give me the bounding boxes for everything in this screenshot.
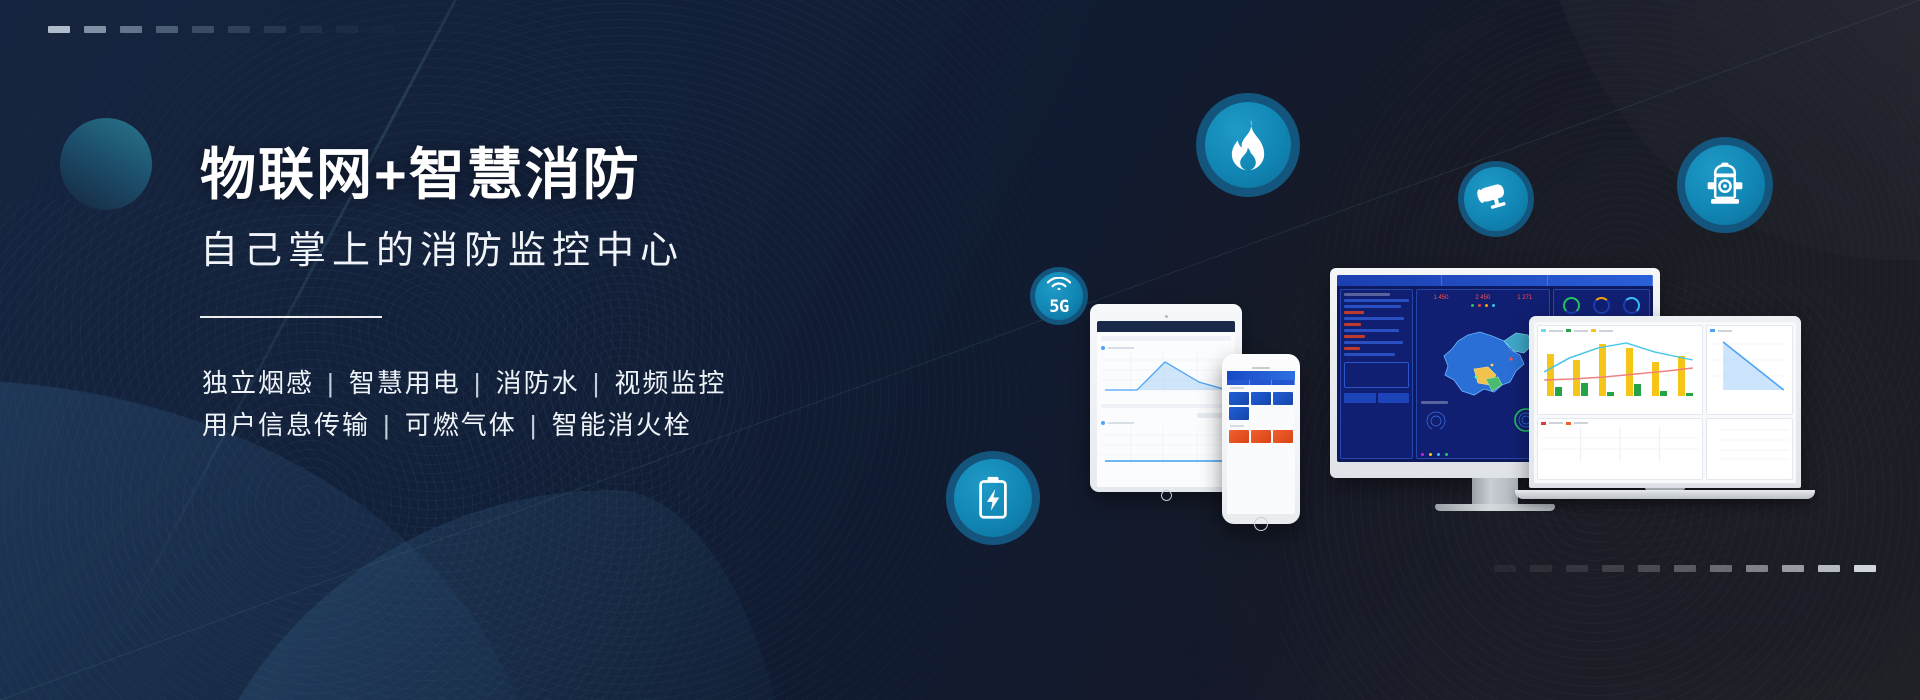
battery-icon bbox=[946, 451, 1040, 545]
cctv-icon bbox=[1458, 161, 1534, 237]
wave-shape-bottom-left-2 bbox=[180, 490, 800, 700]
tablet bbox=[1090, 304, 1242, 492]
feature-row-2: 用户信息传输 | 可燃气体 | 智能消火栓 bbox=[200, 404, 960, 446]
gauge-group bbox=[1557, 293, 1646, 318]
monitor-neck bbox=[1472, 478, 1518, 504]
laptop-dashboard bbox=[1534, 322, 1796, 483]
wifi-arcs-glyph bbox=[1046, 277, 1072, 290]
phone-tab-bar[interactable] bbox=[1227, 380, 1295, 385]
title-divider bbox=[200, 316, 382, 318]
overlay-lines bbox=[1541, 334, 1699, 396]
phone-tile[interactable] bbox=[1229, 407, 1249, 420]
device-mockup-group: 1 4502 4501 271 bbox=[1100, 276, 1800, 576]
cctv-glyph bbox=[1476, 182, 1516, 216]
tablet-flat-chart bbox=[1101, 427, 1231, 465]
page-subtitle: 自己掌上的消防监控中心 bbox=[200, 229, 960, 275]
chart-legend bbox=[1541, 329, 1699, 332]
feature-separator: | bbox=[372, 404, 403, 446]
area-chart-card bbox=[1706, 325, 1793, 415]
feature-tag: 独立烟感 bbox=[200, 362, 316, 404]
hero-banner: 物联网+智慧消防 自己掌上的消防监控中心 独立烟感 | 智慧用电 | 消防水 |… bbox=[0, 0, 1920, 700]
tablet-body bbox=[1090, 304, 1242, 492]
dashboard-header bbox=[1337, 275, 1653, 286]
phone-speaker bbox=[1252, 367, 1270, 369]
phone-tile[interactable] bbox=[1229, 392, 1249, 405]
feature-tag: 用户信息传输 bbox=[200, 404, 372, 446]
mini-axis-chart bbox=[1710, 422, 1789, 462]
mini-axis-card bbox=[1706, 418, 1793, 480]
flame-icon bbox=[1196, 93, 1300, 197]
bar-line-combo-card bbox=[1537, 325, 1703, 415]
feature-tag: 智能消火栓 bbox=[550, 404, 694, 446]
tablet-home-button[interactable] bbox=[1161, 490, 1172, 501]
tablet-header-bar bbox=[1097, 321, 1235, 332]
laptop bbox=[1515, 316, 1815, 499]
feature-separator: | bbox=[316, 362, 347, 404]
feature-separator: | bbox=[463, 362, 494, 404]
fiveg-icon: 5G bbox=[1030, 267, 1088, 325]
grid-table bbox=[1541, 427, 1699, 461]
phone-home-button[interactable] bbox=[1254, 517, 1268, 531]
phone-header-bar bbox=[1227, 371, 1295, 380]
dashboard-panel-left bbox=[1340, 289, 1413, 459]
phone-tile-group-blue bbox=[1227, 389, 1295, 423]
phone-tile-group-orange bbox=[1227, 427, 1295, 446]
battery-glyph bbox=[977, 476, 1009, 520]
feature-tag: 智慧用电 bbox=[347, 362, 463, 404]
feature-tag: 消防水 bbox=[494, 362, 582, 404]
feature-separator: | bbox=[519, 404, 550, 446]
hydrant-glyph bbox=[1704, 161, 1746, 209]
laptop-base bbox=[1515, 490, 1815, 499]
laptop-chart-row-1 bbox=[1537, 325, 1793, 415]
monitor-base bbox=[1435, 504, 1555, 511]
page-title: 物联网+智慧消防 bbox=[200, 144, 960, 207]
phone-tile[interactable] bbox=[1273, 392, 1293, 405]
tablet-screen bbox=[1097, 321, 1235, 487]
feature-separator: | bbox=[582, 362, 613, 404]
hydrant-icon bbox=[1677, 137, 1773, 233]
phone-tile[interactable] bbox=[1251, 392, 1271, 405]
tablet-area-chart bbox=[1101, 352, 1231, 394]
phone-body bbox=[1222, 354, 1300, 524]
feature-row-1: 独立烟感 | 智慧用电 | 消防水 | 视频监控 bbox=[200, 362, 960, 404]
feature-list: 独立烟感 | 智慧用电 | 消防水 | 视频监控 用户信息传输 | 可燃气体 |… bbox=[200, 362, 960, 446]
flame-glyph bbox=[1225, 119, 1271, 171]
laptop-area-chart bbox=[1710, 334, 1789, 396]
phone-screen bbox=[1227, 371, 1295, 514]
phone-tile[interactable] bbox=[1229, 430, 1249, 443]
table-card bbox=[1537, 418, 1703, 480]
laptop-bar-chart bbox=[1541, 334, 1699, 396]
phone-tile[interactable] bbox=[1273, 430, 1293, 443]
laptop-screen bbox=[1529, 316, 1801, 488]
feature-tag: 视频监控 bbox=[612, 362, 728, 404]
phone-tile[interactable] bbox=[1251, 430, 1271, 443]
hero-text-block: 物联网+智慧消防 自己掌上的消防监控中心 独立烟感 | 智慧用电 | 消防水 |… bbox=[200, 144, 960, 447]
tablet-camera bbox=[1165, 315, 1168, 318]
fiveg-label: 5G bbox=[1049, 299, 1068, 316]
dash-marks-top-left bbox=[48, 26, 394, 33]
feature-tag: 可燃气体 bbox=[403, 404, 519, 446]
accent-circle bbox=[60, 118, 152, 210]
laptop-chart-row-2 bbox=[1537, 418, 1793, 480]
smartphone bbox=[1222, 354, 1300, 524]
